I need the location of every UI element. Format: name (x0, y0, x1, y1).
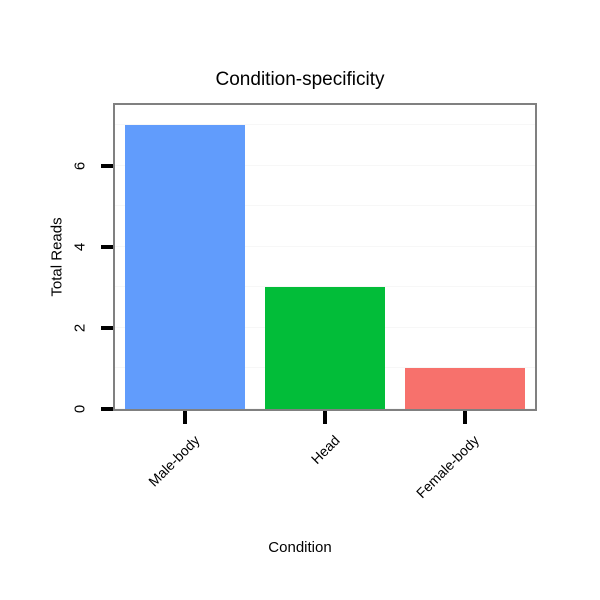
bar[interactable] (125, 125, 245, 409)
y-tick-label: 6 (72, 146, 89, 186)
y-tick-mark (101, 164, 113, 168)
x-tick-mark (323, 411, 327, 424)
y-tick-mark (101, 407, 113, 411)
x-tick-mark (463, 411, 467, 424)
y-tick-label: 4 (72, 227, 89, 267)
x-tick-label: Head (308, 432, 343, 467)
chart-title: Condition-specificity (0, 69, 600, 91)
x-tick-label: Female-body (413, 432, 482, 501)
y-tick-label: 2 (72, 308, 89, 348)
bar[interactable] (405, 368, 525, 409)
bar[interactable] (265, 287, 385, 409)
chart-figure: Condition-specificity Total Reads Condit… (0, 0, 600, 600)
x-tick-mark (183, 411, 187, 424)
y-axis-title: Total Reads (49, 217, 66, 296)
plot-panel (113, 103, 537, 411)
x-axis-title: Condition (0, 539, 600, 556)
y-tick-label: 0 (72, 389, 89, 429)
y-tick-mark (101, 326, 113, 330)
plot-area (115, 105, 535, 409)
x-tick-label: Male-body (145, 432, 203, 490)
y-tick-mark (101, 245, 113, 249)
